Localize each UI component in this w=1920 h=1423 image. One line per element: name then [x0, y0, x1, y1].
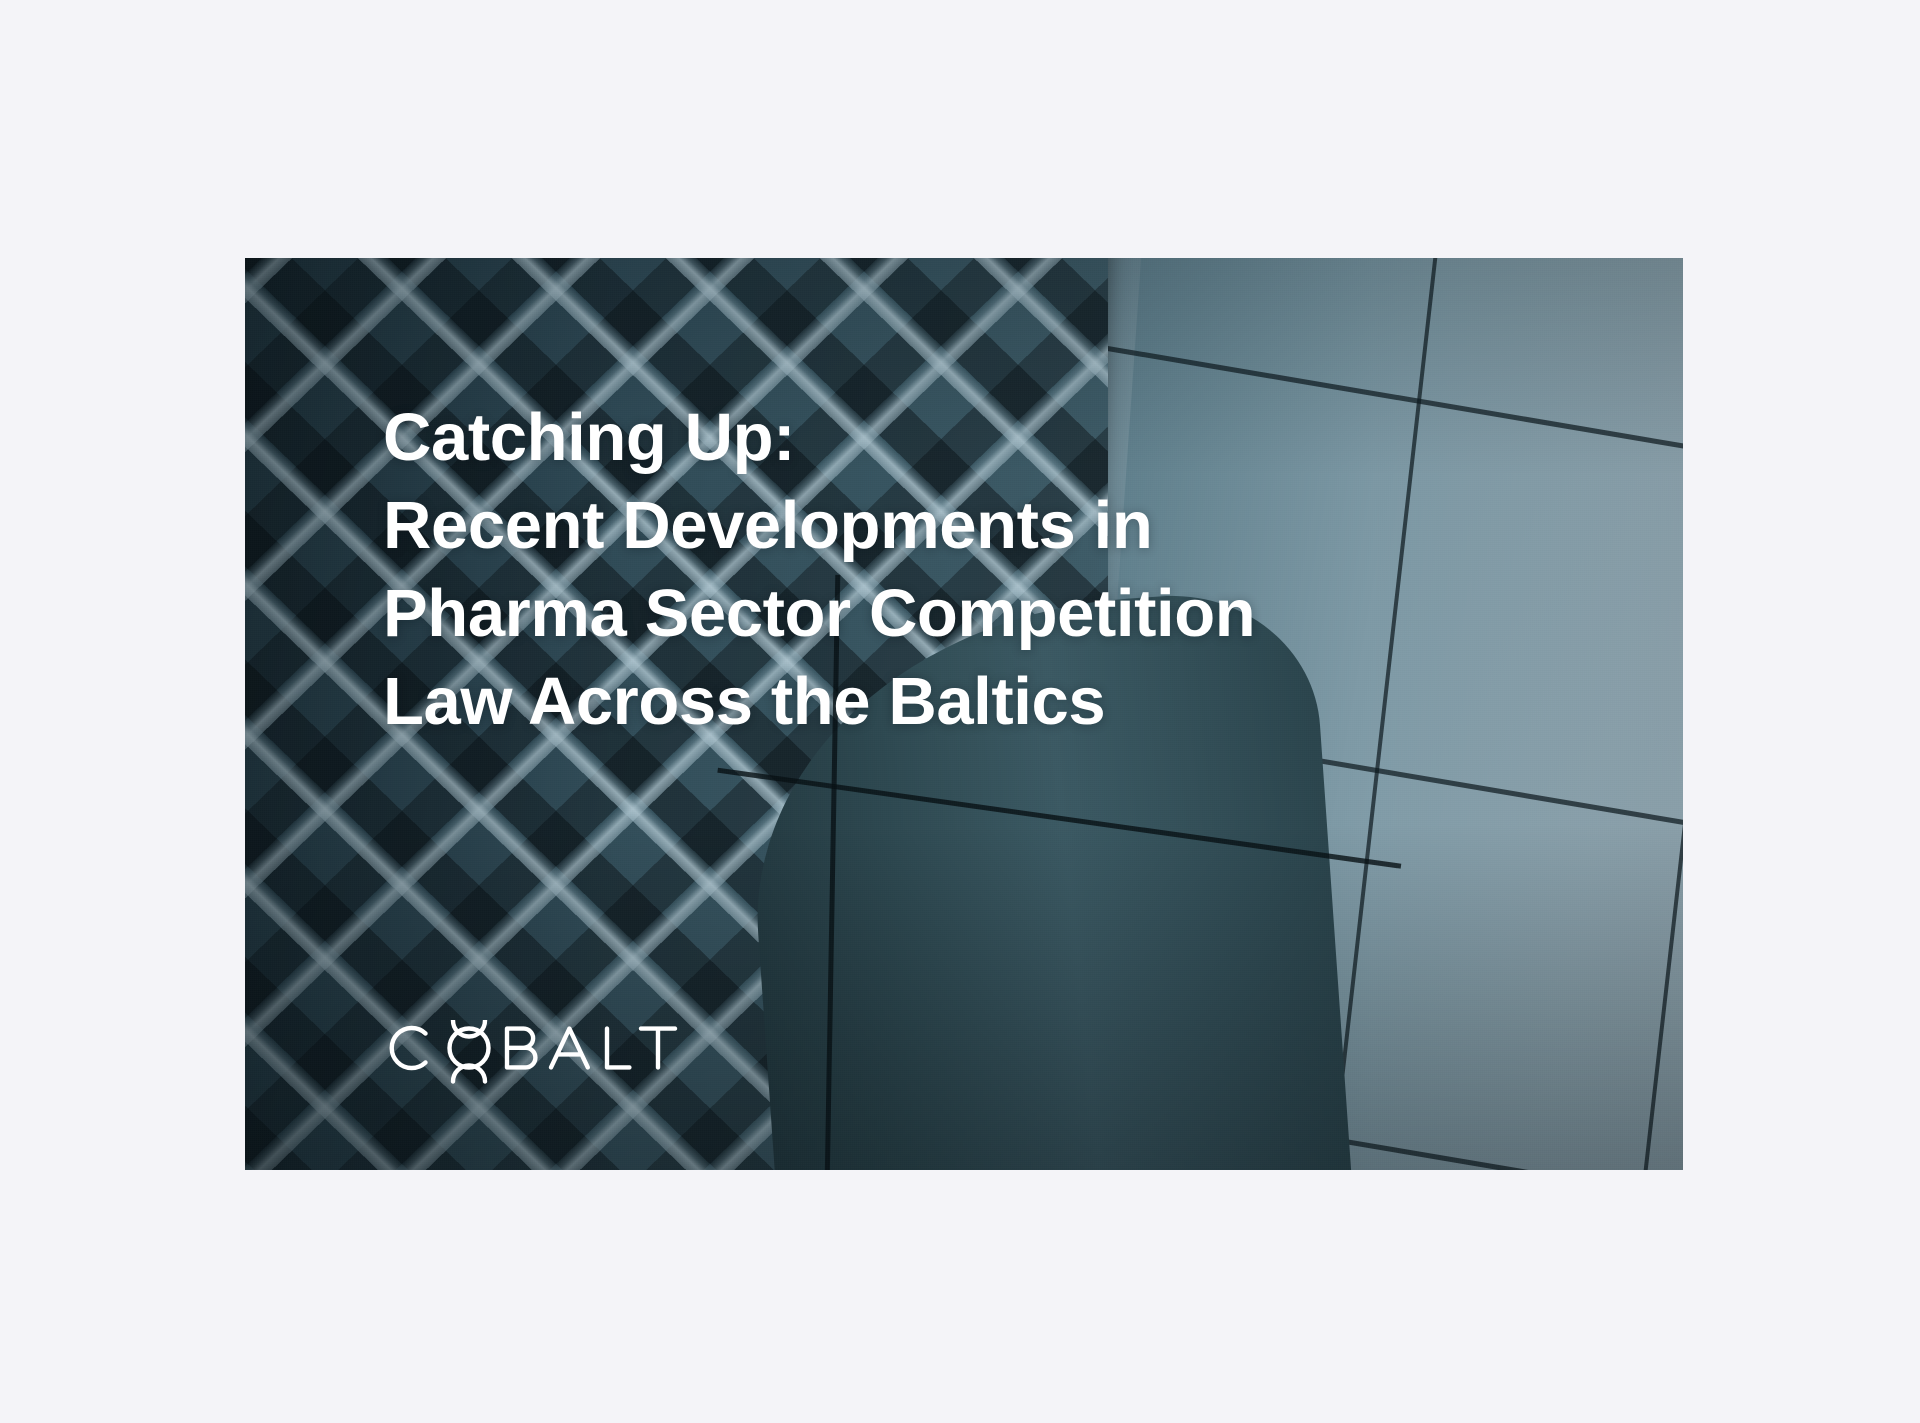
cobalt-wordmark-icon — [383, 1020, 683, 1084]
article-hero-card[interactable]: Catching Up: Recent Developments in Phar… — [245, 258, 1683, 1170]
cobalt-logo[interactable] — [383, 1020, 683, 1084]
article-title: Catching Up: Recent Developments in Phar… — [383, 394, 1533, 746]
